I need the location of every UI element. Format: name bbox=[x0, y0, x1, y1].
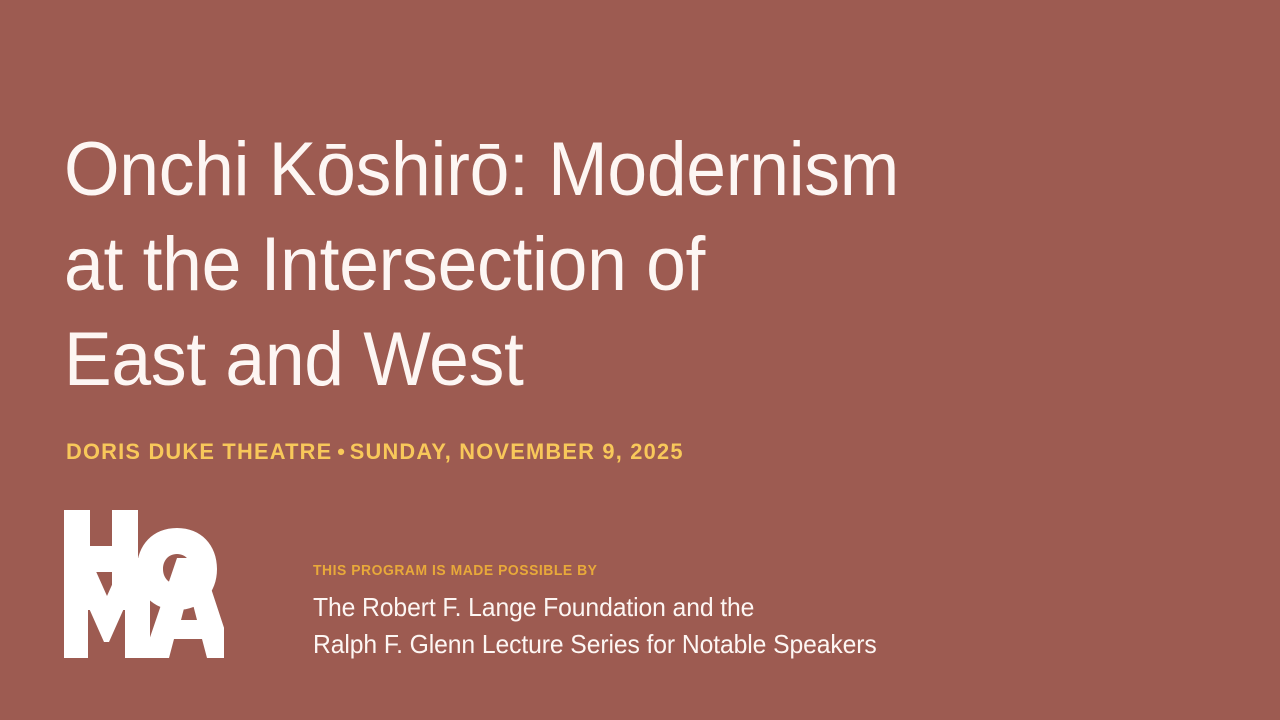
title-line-1: Onchi Kōshirō: Modernism bbox=[64, 122, 1060, 217]
title-line-3: East and West bbox=[64, 312, 1060, 407]
bullet-separator-icon: • bbox=[332, 439, 349, 464]
sponsor-credit: THIS PROGRAM IS MADE POSSIBLE BY The Rob… bbox=[313, 562, 1073, 663]
title-line-2: at the Intersection of bbox=[64, 217, 1060, 312]
credit-lines: The Robert F. Lange Foundation and the R… bbox=[313, 589, 1073, 663]
page-title: Onchi Kōshirō: Modernism at the Intersec… bbox=[64, 122, 1124, 407]
homa-logo bbox=[64, 510, 224, 658]
logo-letter-m bbox=[64, 558, 150, 658]
date-label: SUNDAY, NOVEMBER 9, 2025 bbox=[350, 439, 684, 464]
footer: THIS PROGRAM IS MADE POSSIBLE BY The Rob… bbox=[0, 500, 1280, 700]
event-venue-and-date: DORIS DUKE THEATRE•SUNDAY, NOVEMBER 9, 2… bbox=[66, 438, 684, 466]
event-title-card: Onchi Kōshirō: Modernism at the Intersec… bbox=[0, 0, 1280, 720]
credit-line-1: The Robert F. Lange Foundation and the bbox=[313, 589, 1035, 626]
credit-line-2: Ralph F. Glenn Lecture Series for Notabl… bbox=[313, 626, 1035, 663]
credit-kicker: THIS PROGRAM IS MADE POSSIBLE BY bbox=[313, 562, 1043, 580]
venue-label: DORIS DUKE THEATRE bbox=[66, 439, 332, 464]
